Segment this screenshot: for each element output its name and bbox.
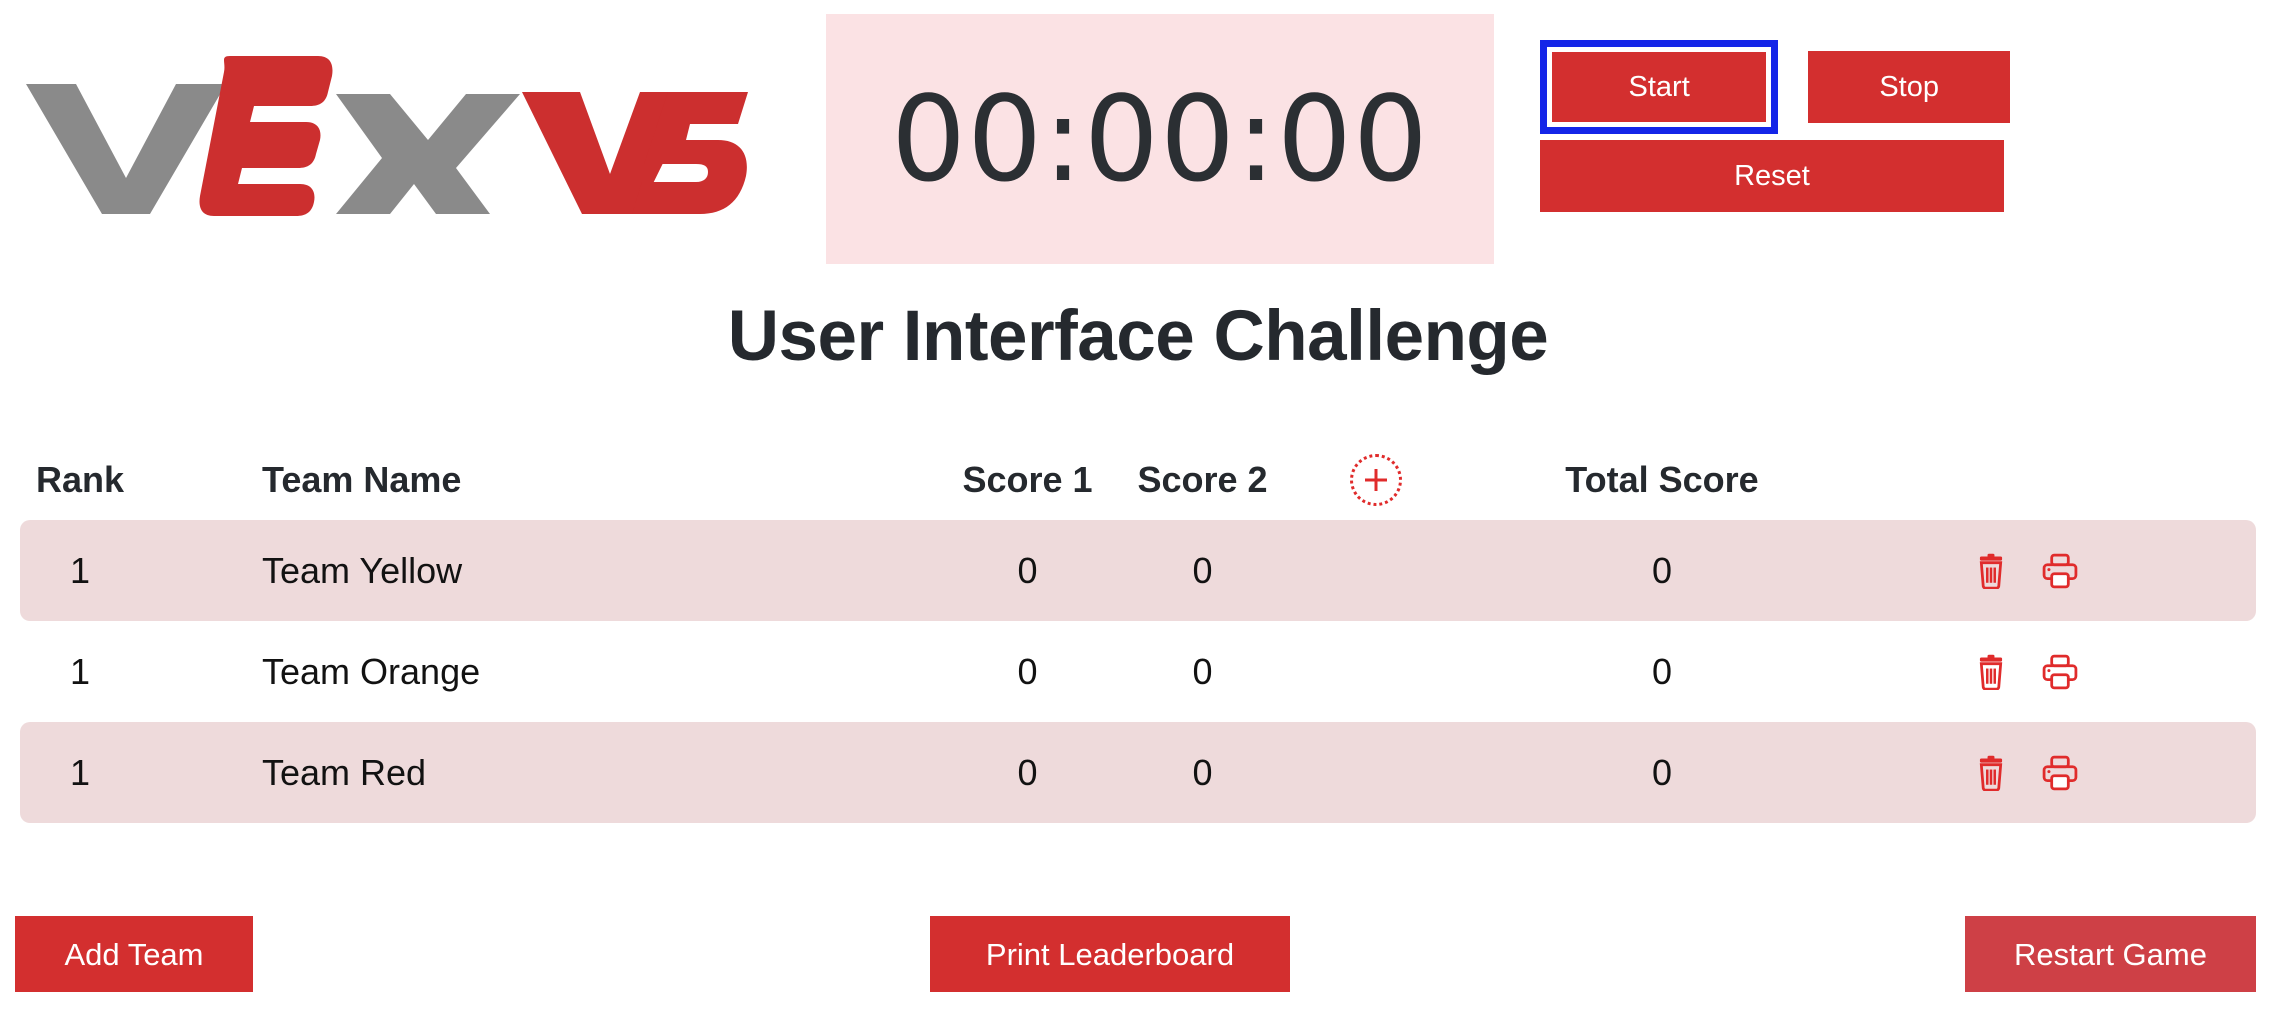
cell-score-2[interactable]: 0 [1115,752,1290,794]
table-row[interactable]: 1 Team Orange 0 0 0 [20,621,2256,722]
cell-total-score: 0 [1462,550,1862,592]
cell-total-score: 0 [1462,651,1862,693]
app-root: 00:00:00 Start Stop Reset User Interface… [0,0,2276,1012]
page-title: User Interface Challenge [0,296,2276,377]
trash-icon[interactable] [1974,654,2008,690]
timer-display: 00:00:00 [826,14,1494,264]
reset-button[interactable]: Reset [1540,140,2004,212]
start-button-focus-ring: Start [1540,40,1778,134]
cell-actions [1862,654,2256,690]
cell-team-name[interactable]: Team Yellow [140,550,940,592]
cell-rank: 1 [20,651,140,693]
cell-rank: 1 [20,752,140,794]
table-row[interactable]: 1 Team Yellow 0 0 0 [20,520,2256,621]
top-bar: 00:00:00 Start Stop Reset [0,0,2276,262]
column-header-team-name: Team Name [140,459,940,501]
cell-actions [1862,553,2256,589]
print-leaderboard-button[interactable]: Print Leaderboard [930,916,1290,992]
restart-game-button[interactable]: Restart Game [1965,916,2256,992]
cell-score-1[interactable]: 0 [940,550,1115,592]
timer-controls: Start Stop Reset [1540,40,2010,212]
add-score-column-cell [1290,454,1462,506]
cell-total-score: 0 [1462,752,1862,794]
vex-v5-logo [18,48,748,218]
plus-circle-icon[interactable] [1350,454,1402,506]
table-row[interactable]: 1 Team Red 0 0 0 [20,722,2256,823]
column-header-score-1: Score 1 [940,459,1115,501]
timer-value: 00:00:00 [891,80,1429,198]
trash-icon[interactable] [1974,553,2008,589]
printer-icon[interactable] [2042,654,2078,690]
add-team-button[interactable]: Add Team [15,916,253,992]
stop-button[interactable]: Stop [1808,51,2010,123]
column-header-rank: Rank [20,459,140,501]
printer-icon[interactable] [2042,755,2078,791]
trash-icon[interactable] [1974,755,2008,791]
printer-icon[interactable] [2042,553,2078,589]
cell-actions [1862,755,2256,791]
table-header-row: Rank Team Name Score 1 Score 2 Total Sco… [20,440,2256,520]
footer-actions: Add Team Print Leaderboard Restart Game [0,916,2276,1012]
column-header-score-2: Score 2 [1115,459,1290,501]
cell-score-2[interactable]: 0 [1115,550,1290,592]
start-button[interactable]: Start [1552,52,1766,122]
cell-team-name[interactable]: Team Orange [140,651,940,693]
column-header-total-score: Total Score [1462,459,1862,501]
cell-score-2[interactable]: 0 [1115,651,1290,693]
cell-rank: 1 [20,550,140,592]
cell-team-name[interactable]: Team Red [140,752,940,794]
leaderboard-table: Rank Team Name Score 1 Score 2 Total Sco… [0,440,2276,823]
cell-score-1[interactable]: 0 [940,752,1115,794]
cell-score-1[interactable]: 0 [940,651,1115,693]
timer-controls-row: Start Stop [1540,40,2010,134]
